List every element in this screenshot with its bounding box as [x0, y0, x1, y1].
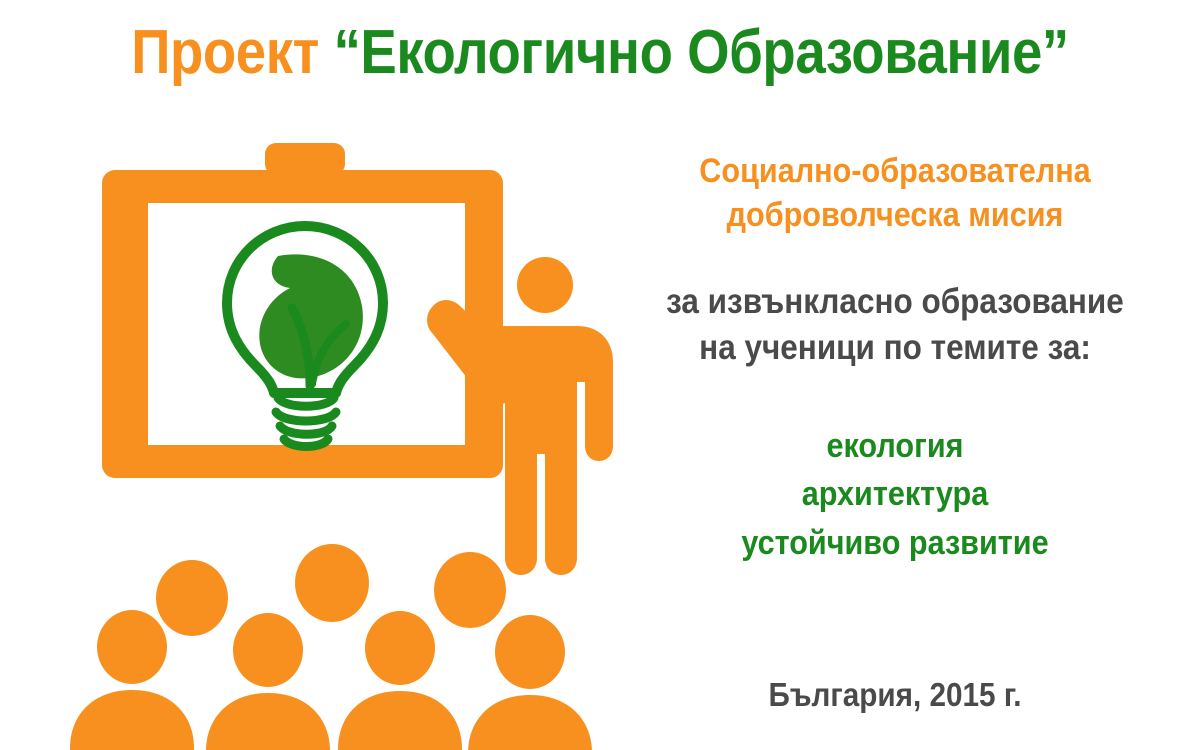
title-quote-close: ” [1042, 18, 1069, 87]
audience-head-back-2 [295, 544, 369, 622]
mission-statement: Социално-образователна доброволческа мис… [630, 150, 1161, 237]
mission-line-1: Социално-образователна [630, 150, 1161, 194]
subtitle-line-1: за извънкласно образование [630, 279, 1161, 325]
audience-figure-4 [468, 615, 592, 750]
topic-ecology: екология [630, 422, 1161, 470]
title-project-name: Екологично Образование [360, 18, 1041, 87]
illustration [70, 130, 630, 750]
mission-line-2: доброволческа мисия [630, 194, 1161, 238]
title-word-project: Проект [131, 18, 319, 87]
audience-head-back-1 [156, 560, 228, 636]
text-column: Социално-образователна доброволческа мис… [600, 150, 1190, 567]
audience-head-back-3 [434, 552, 506, 628]
topic-architecture: архитектура [630, 470, 1161, 518]
footer-location-year: България, 2015 г. [630, 678, 1161, 711]
subtitle-line-2: на ученици по темите за: [630, 325, 1161, 371]
page-title: Проект “Екологично Образование” [72, 22, 1128, 84]
topic-sustainable-development: устойчиво развитие [630, 519, 1161, 567]
audience-figure-2 [206, 613, 330, 750]
audience-back-row [156, 544, 506, 636]
audience-front-row [70, 610, 592, 750]
subtitle-text: за извънкласно образование на ученици по… [630, 279, 1161, 370]
audience-figure-3 [338, 611, 462, 750]
poster-canvas: Проект “Екологично Образование” [0, 0, 1200, 750]
topics-list: екология архитектура устойчиво развитие [630, 422, 1161, 567]
title-quote-open: “ [334, 18, 361, 87]
